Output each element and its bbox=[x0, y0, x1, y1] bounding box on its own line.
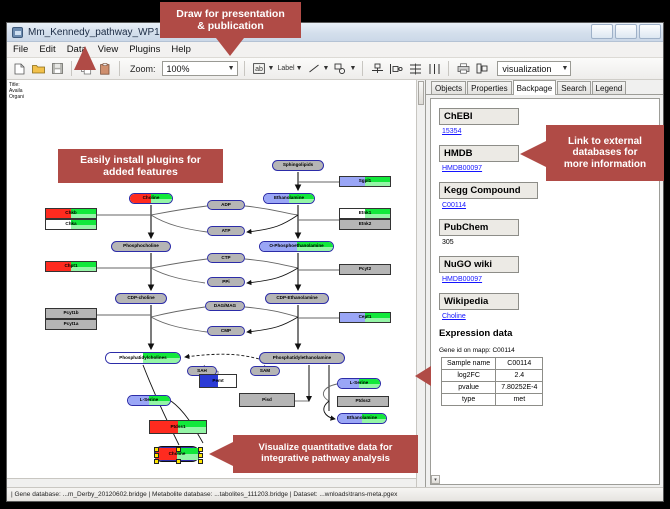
node-label: ATP bbox=[222, 229, 231, 234]
node-label: CDP-Ethanolamine bbox=[276, 296, 317, 301]
callout-links-line1: Link to external bbox=[568, 136, 642, 148]
selection-handle[interactable] bbox=[176, 459, 181, 464]
metabolite-node[interactable]: L-Serine bbox=[127, 395, 171, 406]
node-label: Ptdss2 bbox=[355, 399, 370, 404]
tab-properties[interactable]: Properties bbox=[467, 81, 511, 94]
expression-data-title: Expression data bbox=[439, 328, 659, 339]
metabolite-node[interactable]: CMP bbox=[207, 326, 245, 336]
title-bar: Mm_Kennedy_pathway_WP1771_45176.gpml bbox=[7, 23, 663, 42]
stack-icon[interactable] bbox=[407, 61, 423, 77]
db-link-wikipedia[interactable]: Choline bbox=[442, 313, 659, 320]
metabolite-node[interactable]: L-Serine bbox=[337, 378, 381, 389]
metabolite-node[interactable]: DAG/MAG bbox=[205, 301, 245, 311]
sidebar-scroll-down-icon[interactable]: ▾ bbox=[431, 475, 440, 484]
node-label: Ptdss1 bbox=[170, 425, 185, 430]
open-folder-icon[interactable] bbox=[30, 61, 46, 77]
callout-plugins-line1: Easily install plugins for bbox=[80, 154, 201, 166]
print-icon[interactable] bbox=[455, 61, 471, 77]
gene-node[interactable]: Sgpl1 bbox=[339, 176, 391, 187]
node-label: Choline bbox=[143, 196, 160, 201]
db-header-hmdb: HMDB bbox=[439, 145, 519, 162]
node-label: Sphingolipids bbox=[283, 163, 313, 168]
callout-draw-line2: & publication bbox=[197, 20, 264, 32]
callout-draw-arrow bbox=[216, 38, 244, 56]
cell-value-pvalue: 7.80252E-4 bbox=[496, 382, 543, 394]
pathvisio-window: Mm_Kennedy_pathway_WP1771_45176.gpml Fil… bbox=[6, 22, 664, 502]
metabolite-node[interactable]: ATP bbox=[207, 226, 245, 236]
metabolite-node[interactable]: Sphingolipids bbox=[272, 160, 324, 171]
status-bar: | Gene database: ...m_Derby_20120602.bri… bbox=[7, 487, 663, 501]
gene-node[interactable]: Pisd bbox=[239, 393, 295, 407]
node-label: SAH bbox=[197, 369, 207, 374]
order-icon[interactable] bbox=[474, 61, 490, 77]
gene-node[interactable]: Pcyt1a bbox=[45, 319, 97, 330]
callout-links-line2: databases for bbox=[572, 147, 637, 159]
callout-plugins-arrow bbox=[74, 46, 96, 70]
node-label: Pcyt1a bbox=[64, 322, 79, 327]
tool-bar: Zoom: 100% ▼ ab ▼ Label ▼ ▼ bbox=[7, 58, 663, 80]
spacing-icon[interactable] bbox=[426, 61, 442, 77]
gene-node[interactable]: Ptdss2 bbox=[337, 396, 389, 407]
metabolite-node[interactable]: O-Phosphoethanolamine bbox=[259, 241, 334, 252]
node-label: PPi bbox=[222, 280, 229, 285]
callout-visualize-arrow bbox=[209, 442, 233, 466]
node-label: CMP bbox=[221, 329, 231, 334]
distribute-icon[interactable] bbox=[388, 61, 404, 77]
metabolite-node[interactable]: SAM bbox=[250, 366, 280, 376]
screenshot-root: Mm_Kennedy_pathway_WP1771_45176.gpml Fil… bbox=[0, 0, 670, 509]
close-button[interactable] bbox=[639, 24, 661, 39]
toolbar-separator bbox=[71, 61, 72, 76]
sidebar-tabstrip: Objects Properties Backpage Search Legen… bbox=[426, 80, 663, 95]
node-label: ADP bbox=[221, 203, 231, 208]
node-label: Chka bbox=[65, 222, 76, 227]
cell-value-log2fc: 2.4 bbox=[496, 370, 543, 382]
gene-node[interactable]: Etnk1 bbox=[339, 208, 391, 219]
datanode-tool[interactable]: ab ▼ bbox=[251, 61, 275, 77]
cell-label-type: type bbox=[442, 394, 496, 406]
gene-node[interactable]: Chpt1 bbox=[45, 261, 97, 272]
node-label: Pisd bbox=[262, 398, 272, 403]
visualization-combo[interactable]: visualization ▼ bbox=[497, 61, 571, 76]
metabolite-node[interactable]: CDP-Ethanolamine bbox=[265, 293, 329, 304]
metabolite-node[interactable]: PPi bbox=[207, 277, 245, 287]
node-label: Phosphatidylethanolamine bbox=[273, 356, 331, 361]
callout-links-line3: more information bbox=[564, 159, 646, 171]
metabolite-node[interactable]: Ethanolamine bbox=[337, 413, 387, 424]
callout-links-arrow bbox=[520, 141, 546, 167]
toolbar-separator bbox=[119, 61, 120, 76]
metabolite-node[interactable]: Choline bbox=[129, 193, 173, 204]
gene-node[interactable]: Chkb bbox=[45, 208, 97, 219]
selection-handle[interactable] bbox=[198, 459, 203, 464]
gene-node[interactable]: Pcyt2 bbox=[339, 264, 391, 275]
gene-node[interactable]: Cept1 bbox=[339, 312, 391, 323]
gene-node[interactable]: Etnk2 bbox=[339, 219, 391, 230]
metabolite-node[interactable]: Choline bbox=[155, 447, 199, 461]
table-row: log2FC 2.4 bbox=[442, 370, 543, 382]
node-label: Sgpl1 bbox=[359, 179, 372, 184]
chevron-down-icon[interactable]: ▼ bbox=[323, 65, 330, 72]
line-icon[interactable] bbox=[306, 61, 322, 77]
toolbar-separator bbox=[362, 61, 363, 76]
cell-value-type: met bbox=[496, 394, 543, 406]
line-tool[interactable]: ▼ bbox=[306, 61, 330, 77]
db-header-chebi: ChEBI bbox=[439, 108, 519, 125]
label-tool[interactable]: Label ▼ bbox=[277, 65, 302, 72]
zoom-label: Zoom: bbox=[130, 64, 156, 74]
app-icon bbox=[12, 27, 23, 38]
db-header-kegg: Kegg Compound bbox=[439, 182, 538, 199]
menu-help[interactable]: Help bbox=[170, 44, 192, 55]
save-icon[interactable] bbox=[49, 61, 65, 77]
callout-draw-line1: Draw for presentation bbox=[176, 8, 285, 20]
menu-bar: File Edit Data View Plugins Help bbox=[7, 42, 663, 58]
label-button[interactable]: Label bbox=[277, 65, 294, 72]
canvas-horizontal-scrollbar[interactable] bbox=[7, 478, 416, 487]
metabolite-node[interactable]: CTP bbox=[207, 253, 245, 263]
db-link-kegg[interactable]: C00114 bbox=[442, 202, 659, 209]
cell-label-sample-name: Sample name bbox=[442, 358, 496, 370]
node-label: Cept1 bbox=[359, 315, 372, 320]
table-row: type met bbox=[442, 394, 543, 406]
node-label: O-Phosphoethanolamine bbox=[269, 244, 323, 249]
node-label: CDP-choline bbox=[127, 296, 154, 301]
metabolite-node[interactable]: CDP-choline bbox=[115, 293, 167, 304]
paste-icon[interactable] bbox=[97, 61, 113, 77]
node-label: L-Serine bbox=[140, 398, 158, 403]
node-label: Chpt1 bbox=[64, 264, 77, 269]
metabolite-node[interactable]: ADP bbox=[207, 200, 245, 210]
maximize-button[interactable] bbox=[615, 24, 637, 39]
node-label: Chkb bbox=[65, 211, 76, 216]
menu-file[interactable]: File bbox=[12, 44, 29, 55]
callout-links: Link to external databases for more info… bbox=[546, 125, 664, 181]
tab-backpage[interactable]: Backpage bbox=[513, 80, 557, 95]
tab-legend[interactable]: Legend bbox=[592, 81, 627, 94]
db-header-nugo: NuGO wiki bbox=[439, 256, 519, 273]
minimize-button[interactable] bbox=[591, 24, 613, 39]
tab-objects[interactable]: Objects bbox=[431, 81, 466, 94]
tab-search[interactable]: Search bbox=[557, 81, 590, 94]
menu-plugins[interactable]: Plugins bbox=[128, 44, 161, 55]
table-row: pvalue 7.80252E-4 bbox=[442, 382, 543, 394]
align-icon[interactable] bbox=[369, 61, 385, 77]
node-label: CTP bbox=[221, 256, 230, 261]
new-file-icon[interactable] bbox=[11, 61, 27, 77]
window-controls[interactable] bbox=[591, 24, 661, 39]
node-label: DAG/MAG bbox=[214, 304, 236, 309]
node-label: Phosphatidylcholines bbox=[119, 356, 166, 361]
node-label: Etnk1 bbox=[359, 211, 372, 216]
callout-plugins: Easily install plugins for added feature… bbox=[58, 149, 223, 183]
pathway-canvas[interactable]: Title: Availa Organi bbox=[7, 80, 426, 487]
datanode-icon[interactable]: ab bbox=[251, 61, 267, 77]
selection-handle[interactable] bbox=[198, 447, 203, 452]
gene-node[interactable]: Pcyt1b bbox=[45, 308, 97, 319]
chevron-down-icon: ▼ bbox=[228, 65, 235, 72]
chevron-down-icon[interactable]: ▼ bbox=[268, 65, 275, 72]
metabolite-node[interactable]: Phosphatidylcholines bbox=[105, 352, 181, 364]
selection-handle[interactable] bbox=[176, 447, 181, 452]
svg-text:ab: ab bbox=[255, 66, 263, 73]
cell-label-pvalue: pvalue bbox=[442, 382, 496, 394]
node-label: Phosphocholine bbox=[123, 244, 159, 249]
selection-handle[interactable] bbox=[198, 453, 203, 458]
node-label: Pcyt1b bbox=[63, 311, 78, 316]
canvas-vertical-scrollbar[interactable] bbox=[416, 80, 425, 487]
db-header-pubchem: PubChem bbox=[439, 219, 519, 236]
callout-visualize-line2: integrative pathway analysis bbox=[261, 454, 390, 465]
toolbar-separator bbox=[244, 61, 245, 76]
node-label: L-Serine bbox=[350, 381, 368, 386]
chevron-down-icon[interactable]: ▼ bbox=[349, 65, 356, 72]
node-label: Choline bbox=[169, 452, 186, 457]
zoom-value: 100% bbox=[167, 64, 190, 74]
callout-draw: Draw for presentation & publication bbox=[160, 2, 301, 38]
node-label: SAM bbox=[260, 369, 270, 374]
db-value-pubchem: 305 bbox=[442, 239, 659, 246]
shape-tool[interactable]: ▼ bbox=[332, 61, 356, 77]
node-label: Ethanolamine bbox=[347, 416, 377, 421]
shape-icon[interactable] bbox=[332, 61, 348, 77]
callout-expression-arrow bbox=[415, 366, 431, 386]
node-label: Etnk2 bbox=[359, 222, 372, 227]
chevron-down-icon: ▼ bbox=[561, 65, 568, 72]
chevron-down-icon[interactable]: ▼ bbox=[296, 65, 303, 72]
gene-id-line: Gene id on mapp: C00114 bbox=[439, 347, 659, 354]
selection-handle[interactable] bbox=[154, 447, 159, 452]
cell-label-log2fc: log2FC bbox=[442, 370, 496, 382]
gene-node[interactable]: Pemt bbox=[199, 374, 237, 388]
menu-view[interactable]: View bbox=[97, 44, 119, 55]
scroll-thumb[interactable] bbox=[418, 81, 424, 105]
cell-value-sample-name: C00114 bbox=[496, 358, 543, 370]
toolbar-separator bbox=[448, 61, 449, 76]
table-row: Sample name C00114 bbox=[442, 358, 543, 370]
zoom-combo[interactable]: 100% ▼ bbox=[162, 61, 238, 76]
gene-node[interactable]: Ptdss1 bbox=[149, 420, 207, 434]
db-link-nugo[interactable]: HMDB00097 bbox=[442, 276, 659, 283]
db-header-wikipedia: Wikipedia bbox=[439, 293, 519, 310]
selection-handle[interactable] bbox=[154, 459, 159, 464]
metabolite-node[interactable]: Ethanolamine bbox=[263, 193, 315, 204]
menu-edit[interactable]: Edit bbox=[38, 44, 56, 55]
selection-handle[interactable] bbox=[154, 453, 159, 458]
node-label: Pemt bbox=[212, 379, 223, 384]
status-text: | Gene database: ...m_Derby_20120602.bri… bbox=[11, 491, 397, 498]
metabolite-node[interactable]: Phosphocholine bbox=[111, 241, 171, 252]
metabolite-node[interactable]: Phosphatidylethanolamine bbox=[259, 352, 345, 364]
node-label: Ethanolamine bbox=[274, 196, 304, 201]
gene-node[interactable]: Chka bbox=[45, 219, 97, 230]
node-label: Pcyt2 bbox=[359, 267, 371, 272]
callout-visualize: Visualize quantitative data for integrat… bbox=[233, 435, 418, 473]
expression-table: Sample name C00114 log2FC 2.4 pvalue 7.8… bbox=[441, 357, 543, 406]
callout-plugins-line2: added features bbox=[103, 166, 178, 178]
visualization-value: visualization bbox=[502, 64, 551, 74]
